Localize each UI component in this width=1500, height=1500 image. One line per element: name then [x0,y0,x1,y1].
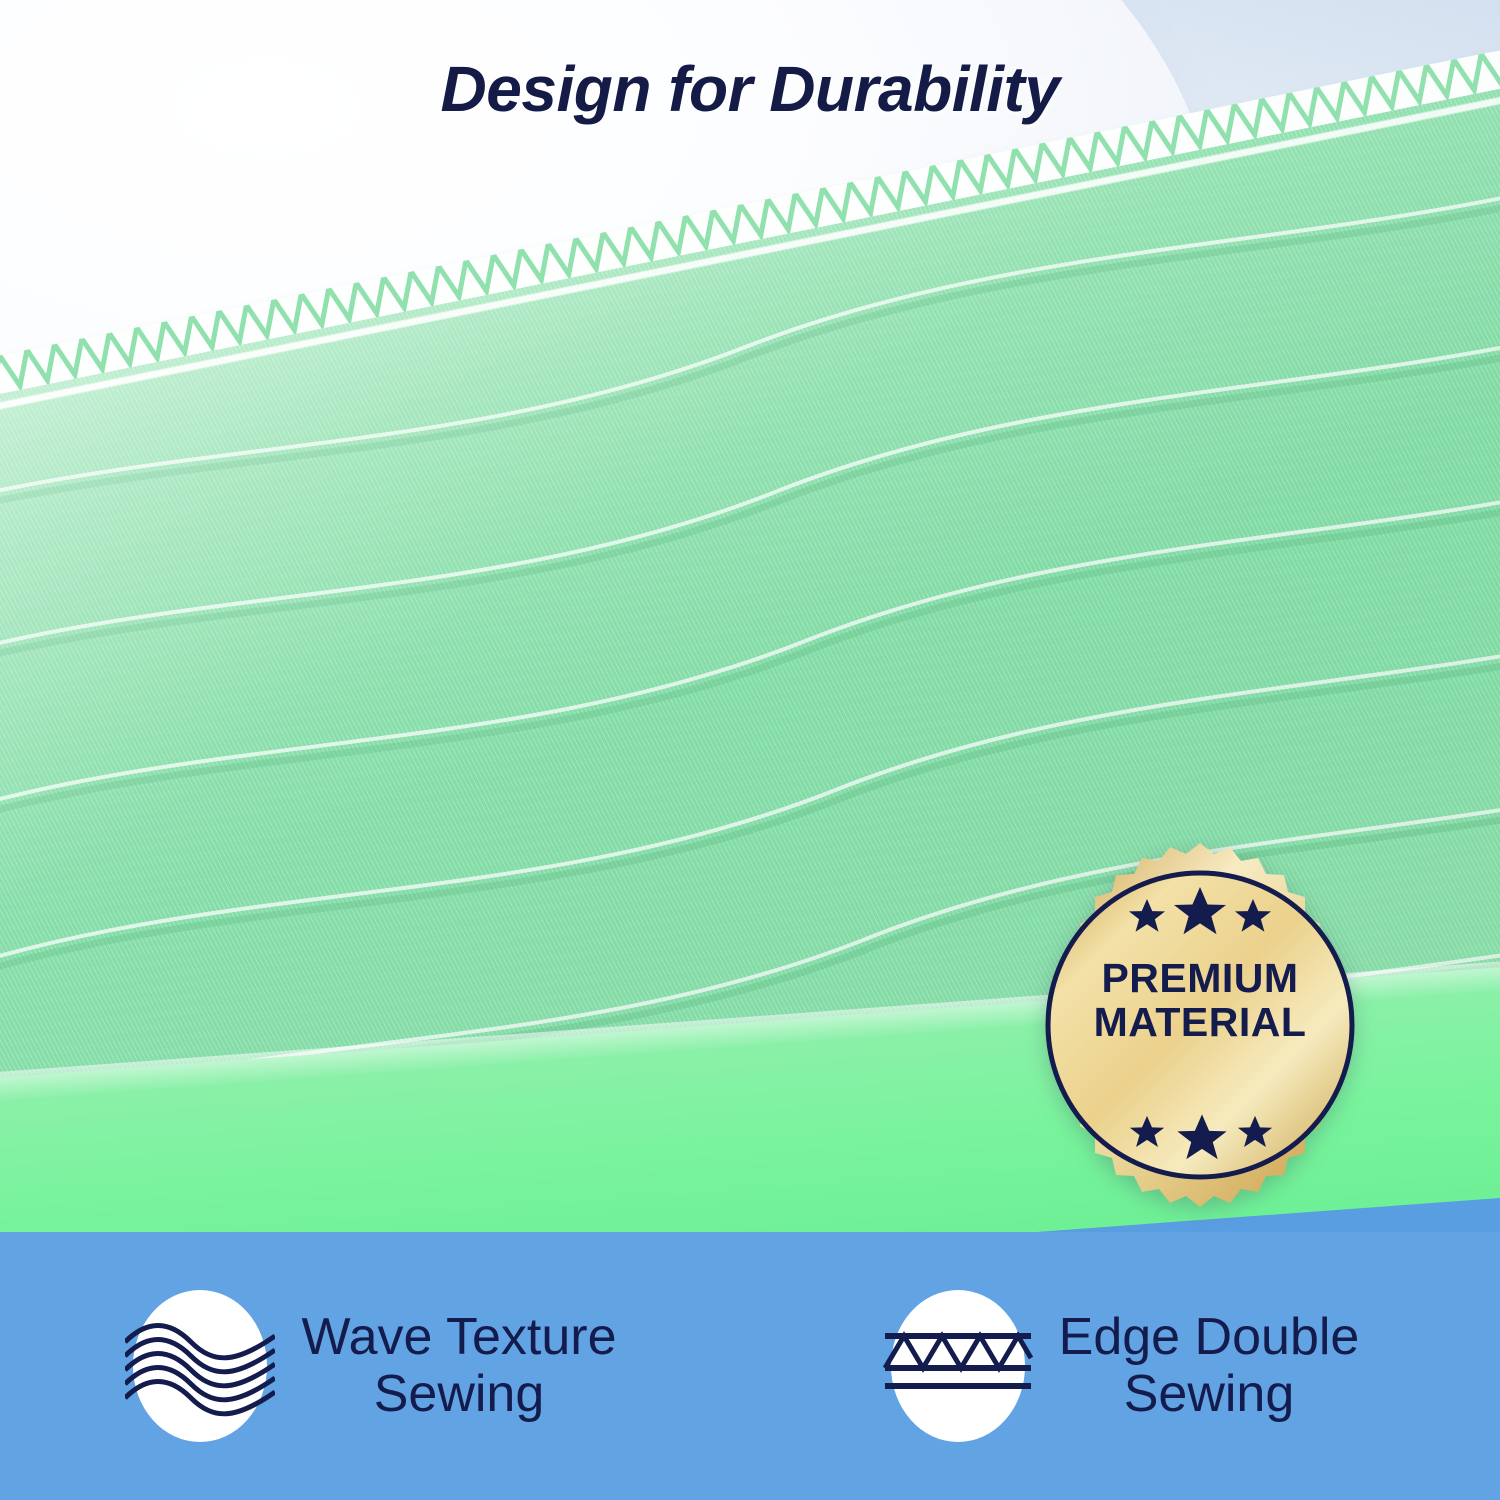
wave-lines-icon [133,1290,267,1442]
feature-wave-texture-sewing: Wave Texture Sewing [0,1290,750,1442]
badge-line-2: MATERIAL [1045,1000,1355,1044]
badge-text-block: PREMIUM MATERIAL [1045,956,1355,1045]
badge-line-1: PREMIUM [1045,956,1355,1000]
product-feature-image: Design for Durability [0,0,1500,1500]
zigzag-stitch-icon [891,1290,1025,1442]
feature-edge-double-sewing: Edge Double Sewing [750,1290,1500,1442]
feature-band: Wave Texture Sewing Edge Double Sewing [0,1232,1500,1500]
feature-label-edge-double-sewing: Edge Double Sewing [1059,1309,1360,1423]
page-title: Design for Durability [0,52,1500,126]
feature-label-wave-texture-sewing: Wave Texture Sewing [301,1309,616,1423]
premium-material-badge: PREMIUM MATERIAL [1045,838,1355,1212]
